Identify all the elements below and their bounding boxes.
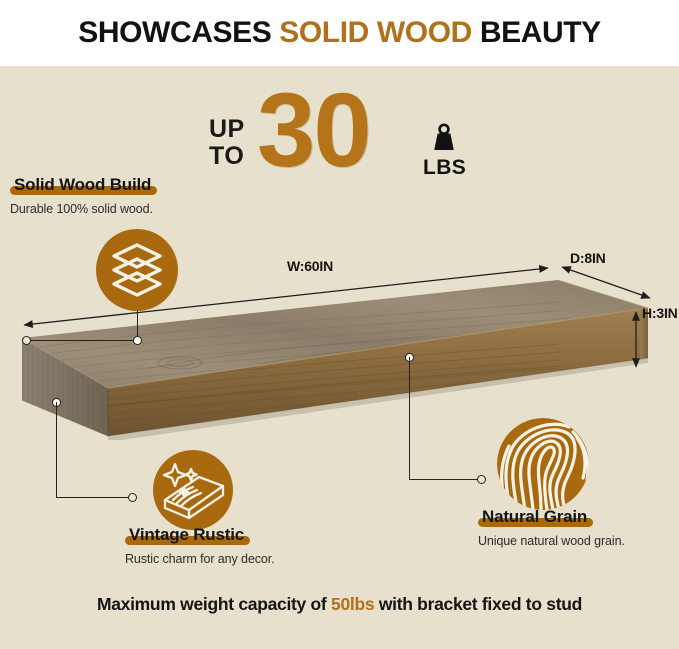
capacity-upto-label: UP TO bbox=[209, 116, 245, 169]
connector-line-solid-wood-horizontal bbox=[26, 340, 138, 341]
infographic-canvas: SHOWCASES SOLID WOOD BEAUTY UP TO 30 LBS bbox=[0, 0, 679, 649]
header-title-part1: SHOWCASES bbox=[78, 16, 279, 49]
weight-icon bbox=[427, 122, 461, 156]
wood-plank-sparkle-glyph bbox=[153, 450, 233, 530]
connector-line-vintage-horizontal bbox=[56, 497, 132, 498]
footer-prefix: Maximum weight capacity of bbox=[97, 594, 331, 614]
dimension-depth-label: D:8IN bbox=[570, 250, 606, 266]
feature-title-text-solid-wood: Solid Wood Build bbox=[14, 175, 151, 194]
feature-title-grain: Natural Grain bbox=[478, 508, 593, 525]
header-title-part2: BEAUTY bbox=[472, 16, 601, 49]
connector-line-vintage-vertical bbox=[56, 402, 57, 498]
header-title-accent: SOLID WOOD bbox=[279, 16, 472, 49]
feature-title-text-grain: Natural Grain bbox=[482, 507, 587, 526]
wood-grain-icon[interactable] bbox=[497, 418, 589, 510]
feature-subtitle-vintage: Rustic charm for any decor. bbox=[125, 552, 274, 566]
wood-plank-sparkle-icon[interactable] bbox=[153, 450, 233, 530]
feature-subtitle-grain: Unique natural wood grain. bbox=[478, 534, 625, 548]
header-band: SHOWCASES SOLID WOOD BEAUTY bbox=[0, 0, 679, 66]
dimension-width-label: W:60IN bbox=[287, 258, 333, 274]
feature-natural-grain[interactable]: Natural Grain Unique natural wood grain. bbox=[478, 508, 625, 548]
connector-line-grain-horizontal bbox=[409, 479, 481, 480]
capacity-to-text: TO bbox=[209, 143, 245, 170]
feature-title-vintage: Vintage Rustic bbox=[125, 526, 250, 543]
dimension-height-label: H:3IN bbox=[642, 305, 678, 321]
footer-accent-value: 50lbs bbox=[331, 594, 374, 614]
stacked-layers-glyph bbox=[96, 229, 178, 311]
wood-grain-glyph bbox=[497, 418, 589, 510]
connector-endpoint-grain bbox=[477, 475, 486, 484]
connector-dot-shelf-solid-wood bbox=[133, 336, 142, 345]
capacity-unit: LBS bbox=[423, 156, 466, 180]
feature-vintage-rustic[interactable]: Vintage Rustic Rustic charm for any deco… bbox=[125, 526, 274, 566]
feature-subtitle-solid-wood: Durable 100% solid wood. bbox=[10, 202, 157, 216]
capacity-number: 30 bbox=[257, 78, 370, 183]
stacked-layers-icon[interactable] bbox=[96, 229, 178, 311]
connector-endpoint-vintage bbox=[128, 493, 137, 502]
connector-line-grain-vertical bbox=[409, 357, 410, 480]
feature-solid-wood-build[interactable]: Solid Wood Build Durable 100% solid wood… bbox=[10, 176, 157, 216]
feature-title-solid-wood: Solid Wood Build bbox=[10, 176, 157, 193]
footer-capacity-note: Maximum weight capacity of 50lbs with br… bbox=[0, 594, 679, 615]
feature-title-text-vintage: Vintage Rustic bbox=[129, 525, 244, 544]
connector-endpoint-solid-wood bbox=[22, 336, 31, 345]
capacity-up-text: UP bbox=[209, 116, 245, 143]
capacity-badge: UP TO 30 LBS bbox=[205, 86, 490, 191]
footer-suffix: with bracket fixed to stud bbox=[374, 594, 582, 614]
page-title: SHOWCASES SOLID WOOD BEAUTY bbox=[78, 18, 601, 48]
